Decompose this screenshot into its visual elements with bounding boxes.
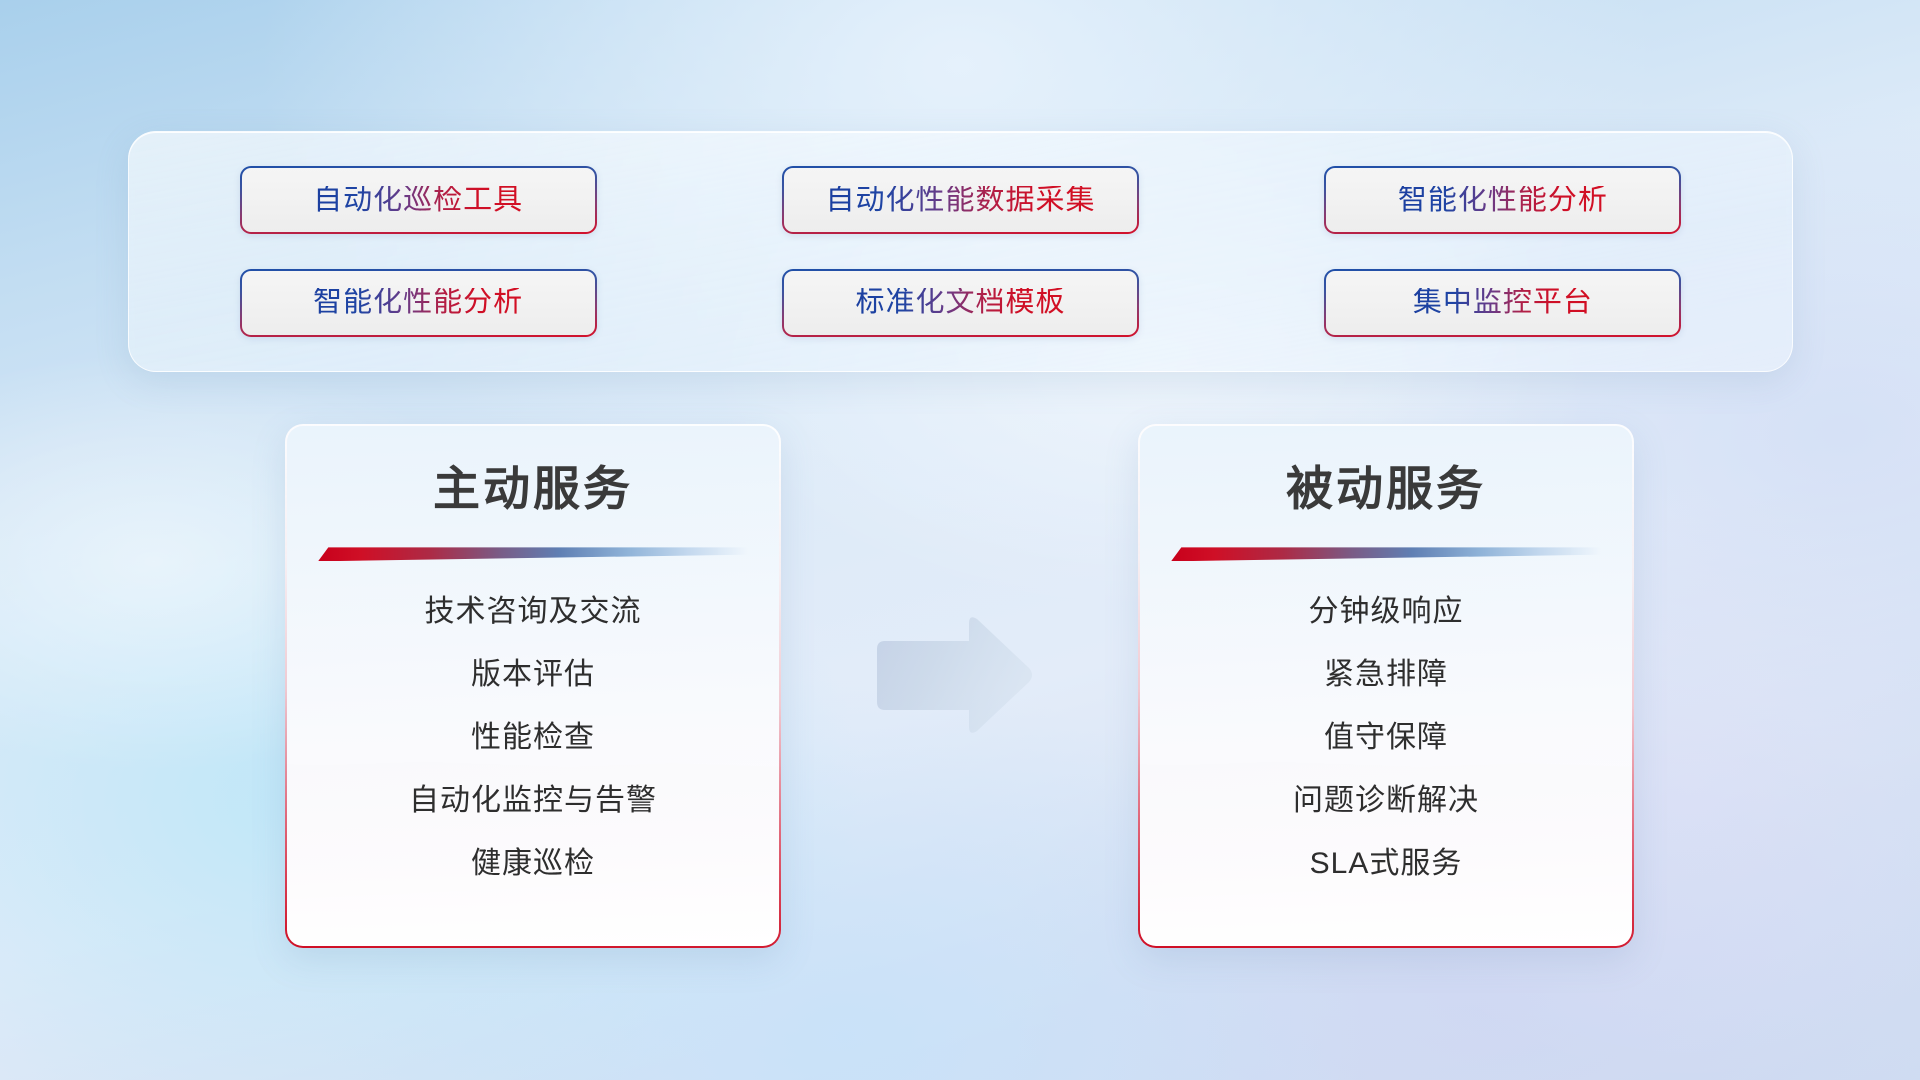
flow-arrow-right-icon	[873, 613, 1035, 738]
capability-pill-3[interactable]: 智能化性能分析	[1324, 166, 1681, 234]
capability-pill-5-label: 标准化文档模板	[855, 288, 1065, 317]
proactive-service-list: 技术咨询及交流 版本评估 性能检查 自动化监控与告警 健康巡检	[317, 595, 749, 880]
reactive-service-card[interactable]: 被动服务 分钟级响应 紧急排障 值守保障 问题诊断解决 SLA式服务	[1138, 424, 1634, 948]
capability-pill-3-surface: 智能化性能分析	[1326, 168, 1679, 232]
capability-pill-6-label: 集中监控平台	[1413, 288, 1593, 317]
capability-pill-2-surface: 自动化性能数据采集	[784, 168, 1137, 232]
capability-pill-1-surface: 自动化巡检工具	[242, 168, 595, 232]
list-item: 性能检查	[471, 721, 595, 754]
reactive-title-divider-bar	[1171, 547, 1601, 561]
capability-panel: 自动化巡检工具 自动化性能数据采集 智能化性能分析 智能化性能分析 标准化文档模…	[128, 131, 1793, 372]
capability-pill-3-label: 智能化性能分析	[1398, 186, 1608, 215]
capability-pill-1[interactable]: 自动化巡检工具	[240, 166, 597, 234]
list-item: 健康巡检	[471, 847, 595, 880]
list-item: 值守保障	[1324, 721, 1448, 754]
capability-pill-5-surface: 标准化文档模板	[784, 271, 1137, 335]
capability-pill-4[interactable]: 智能化性能分析	[240, 269, 597, 337]
list-item: 分钟级响应	[1309, 595, 1464, 628]
list-item: 技术咨询及交流	[425, 595, 642, 628]
proactive-service-card[interactable]: 主动服务 技术咨询及交流 版本评估 性能检查 自动化监控与告警 健康巡检	[285, 424, 781, 948]
reactive-service-card-surface: 被动服务 分钟级响应 紧急排障 值守保障 问题诊断解决 SLA式服务	[1140, 426, 1632, 946]
list-item: 紧急排障	[1324, 658, 1448, 691]
capability-pill-4-label: 智能化性能分析	[313, 288, 523, 317]
capability-pill-6[interactable]: 集中监控平台	[1324, 269, 1681, 337]
reactive-title-divider	[1171, 547, 1601, 561]
proactive-service-title: 主动服务	[433, 464, 633, 513]
list-item: 问题诊断解决	[1293, 784, 1479, 817]
capability-pill-2-label: 自动化性能数据采集	[825, 186, 1095, 215]
reactive-service-title: 被动服务	[1286, 464, 1486, 513]
reactive-service-list: 分钟级响应 紧急排障 值守保障 问题诊断解决 SLA式服务	[1170, 595, 1602, 880]
capability-pill-4-surface: 智能化性能分析	[242, 271, 595, 335]
list-item: 版本评估	[471, 658, 595, 691]
list-item: 自动化监控与告警	[409, 784, 657, 817]
capability-pill-1-label: 自动化巡检工具	[313, 186, 523, 215]
proactive-title-divider	[318, 547, 748, 561]
proactive-service-card-surface: 主动服务 技术咨询及交流 版本评估 性能检查 自动化监控与告警 健康巡检	[287, 426, 779, 946]
capability-pill-grid: 自动化巡检工具 自动化性能数据采集 智能化性能分析 智能化性能分析 标准化文档模…	[129, 132, 1792, 371]
capability-pill-2[interactable]: 自动化性能数据采集	[782, 166, 1139, 234]
capability-pill-6-surface: 集中监控平台	[1326, 271, 1679, 335]
list-item: SLA式服务	[1310, 847, 1463, 880]
capability-pill-5[interactable]: 标准化文档模板	[782, 269, 1139, 337]
proactive-title-divider-bar	[318, 547, 748, 561]
